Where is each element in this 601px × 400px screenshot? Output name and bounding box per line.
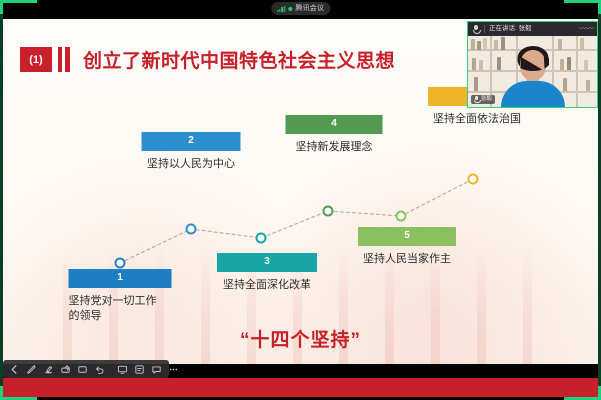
chart-node-6[interactable] <box>468 174 479 185</box>
chart-label-4: 4 坚持新发展理念 <box>286 115 383 155</box>
microphone-small-icon <box>474 96 479 103</box>
chart-label-5: 5 坚持人民当家作主 <box>358 227 456 267</box>
share-border-top-right <box>564 0 601 17</box>
highlighter-icon[interactable] <box>43 363 54 376</box>
meeting-status-pill[interactable]: 腾讯会议 <box>271 2 330 15</box>
annotate-icon[interactable] <box>134 363 145 376</box>
screen-share-window: 腾讯会议 (1) 创立了新时代中国特色社会主义思想 <box>0 0 601 400</box>
chat-icon[interactable] <box>151 363 162 376</box>
microphone-icon <box>472 25 480 34</box>
share-border-top-left <box>0 0 37 17</box>
eraser-icon[interactable] <box>60 363 71 376</box>
more-icon[interactable] <box>168 363 179 376</box>
chart-label-2-caption: 坚持以人民为中心 <box>142 157 241 172</box>
chart-label-5-number: 5 <box>358 227 456 246</box>
chart-node-3[interactable] <box>256 233 267 244</box>
participant-name-label: 张毅 <box>481 97 492 103</box>
chart-node-2[interactable] <box>186 224 197 235</box>
active-speaker-label: 正在讲话: 张毅 <box>489 26 532 33</box>
slide-slogan: “十四个坚持” <box>240 325 361 352</box>
chart-label-3-caption: 坚持全面深化改革 <box>217 278 317 293</box>
screen-share-icon[interactable] <box>117 363 128 376</box>
participant-video-tile[interactable]: 正在讲话: 张毅 〰〰 <box>467 21 598 108</box>
video-tile-header: 正在讲话: 张毅 〰〰 <box>468 22 597 36</box>
chart-label-1-caption: 坚持党对一切工作 的领导 <box>69 294 172 324</box>
back-icon[interactable] <box>9 363 20 376</box>
chart-node-1[interactable] <box>115 258 126 269</box>
signal-wave-icon: 〰〰 <box>579 25 593 33</box>
chart-label-3: 3 坚持全面深化改革 <box>217 253 317 293</box>
header-divider <box>484 25 485 33</box>
green-status-dot <box>288 7 292 11</box>
undo-icon[interactable] <box>94 363 105 376</box>
slide-bottom-band <box>3 378 598 397</box>
chart-node-4[interactable] <box>323 206 334 217</box>
signal-bars-icon <box>277 5 286 12</box>
chart-label-2: 2 坚持以人民为中心 <box>142 132 241 172</box>
chart-label-2-number: 2 <box>142 132 241 151</box>
chart-label-3-number: 3 <box>217 253 317 272</box>
shape-icon[interactable] <box>77 363 88 376</box>
chart-label-1-number: 1 <box>69 269 172 288</box>
chart-label-4-caption: 坚持新发展理念 <box>286 140 383 155</box>
chart-label-1: 1 坚持党对一切工作 的领导 <box>69 269 172 324</box>
chart-label-5-caption: 坚持人民当家作主 <box>358 252 456 267</box>
chart-label-4-number: 4 <box>286 115 383 134</box>
participant-name-badge: 张毅 <box>471 95 495 104</box>
video-feed: 张毅 <box>468 36 597 107</box>
chart-label-6-caption: 坚持全面依法治国 <box>428 112 526 127</box>
annotation-toolbar[interactable] <box>3 360 169 378</box>
pen-icon[interactable] <box>26 363 37 376</box>
chart-node-5[interactable] <box>396 211 407 222</box>
app-name-label: 腾讯会议 <box>295 5 324 12</box>
